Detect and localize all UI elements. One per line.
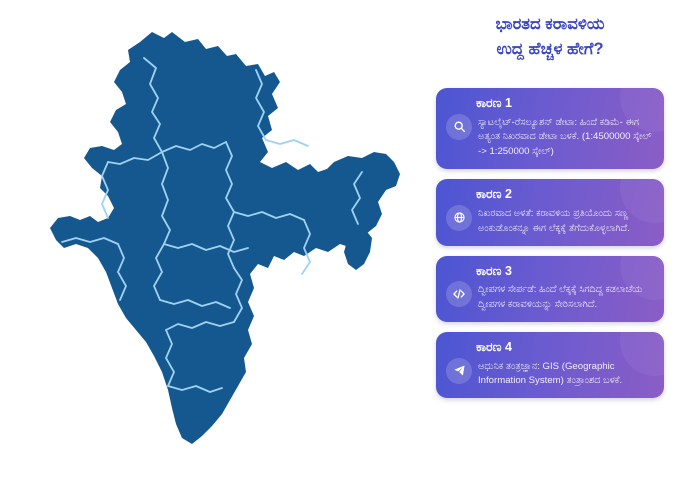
india-mainland-shape (50, 32, 368, 444)
code-icon (446, 281, 472, 307)
reason-card-3-title: ಕಾರಣ 3 (476, 264, 654, 280)
page-title-line-2: ಉದ್ದ ಹೆಚ್ಚಳ ಹೇಗೆ? (420, 37, 680, 62)
page-title: ಭಾರತದ ಕರಾವಳಿಯ ಉದ್ದ ಹೆಚ್ಚಳ ಹೇಗೆ? (420, 12, 680, 62)
content-panel: ಭಾರತದ ಕರಾವಳಿಯ ಉದ್ದ ಹೆಚ್ಚಳ ಹೇಗೆ? ಕಾರಣ 1 ಸ… (420, 0, 680, 485)
reason-card-2-title: ಕಾರಣ 2 (476, 187, 654, 203)
infographic-page: ಭಾರತದ ಕರಾವಳಿಯ ಉದ್ದ ಹೆಚ್ಚಳ ಹೇಗೆ? ಕಾರಣ 1 ಸ… (0, 0, 680, 485)
reason-card-3-text: ದ್ವೀಪಗಳ ಸೇರ್ಪಡೆ: ಹಿಂದೆ ಲೆಕ್ಕಕ್ಕೆ ಸಿಗದಿದ್… (478, 282, 654, 313)
reason-card-1[interactable]: ಕಾರಣ 1 ಸ್ಯಾಟಲೈಟ್-ರೆಸಲ್ಯೂಶನ್ ಡೇಟಾ: ಹಿಂದೆ … (436, 88, 664, 169)
reason-card-4-title: ಕಾರಣ 4 (476, 340, 654, 356)
reason-card-1-text: ಸ್ಯಾಟಲೈಟ್-ರೆಸಲ್ಯೂಶನ್ ಡೇಟಾ: ಹಿಂದೆ ಕಡಿಮೆ- … (478, 115, 654, 161)
page-title-line-1: ಭಾರತದ ಕರಾವಳಿಯ (420, 12, 680, 37)
india-map (22, 12, 412, 482)
globe-icon (446, 205, 472, 231)
reason-card-4-body: ಆಧುನಿಕ ತಂತ್ರಜ್ಞಾನ: GIS (Geographic Infor… (446, 359, 654, 390)
reason-card-2-text: ನಿಖರವಾದ ಅಳತೆ: ಕರಾವಳಿಯ ಪ್ರತಿಯೊಂದು ಸಣ್ಣ ಅಂ… (478, 206, 654, 237)
reason-card-3-body: ದ್ವೀಪಗಳ ಸೇರ್ಪಡೆ: ಹಿಂದೆ ಲೆಕ್ಕಕ್ಕೆ ಸಿಗದಿದ್… (446, 282, 654, 313)
reason-card-1-title: ಕಾರಣ 1 (476, 96, 654, 112)
reason-card-2[interactable]: ಕಾರಣ 2 ನಿಖರವಾದ ಅಳತೆ: ಕರಾವಳಿಯ ಪ್ರತಿಯೊಂದು … (436, 179, 664, 245)
reason-card-2-body: ನಿಖರವಾದ ಅಳತೆ: ಕರಾವಳಿಯ ಪ್ರತಿಯೊಂದು ಸಣ್ಣ ಅಂ… (446, 206, 654, 237)
map-panel (0, 0, 420, 485)
reason-card-3[interactable]: ಕಾರಣ 3 ದ್ವೀಪಗಳ ಸೇರ್ಪಡೆ: ಹಿಂದೆ ಲೆಕ್ಕಕ್ಕೆ … (436, 256, 664, 322)
send-icon (446, 358, 472, 384)
reason-card-list: ಕಾರಣ 1 ಸ್ಯಾಟಲೈಟ್-ರೆಸಲ್ಯೂಶನ್ ಡೇಟಾ: ಹಿಂದೆ … (420, 88, 680, 408)
reason-card-4[interactable]: ಕಾರಣ 4 ಆಧುನಿಕ ತಂತ್ರಜ್ಞಾನ: GIS (Geographi… (436, 332, 664, 398)
reason-card-4-text: ಆಧುನಿಕ ತಂತ್ರಜ್ಞಾನ: GIS (Geographic Infor… (478, 359, 654, 390)
search-icon (446, 114, 472, 140)
reason-card-1-body: ಸ್ಯಾಟಲೈಟ್-ರೆಸಲ್ಯೂಶನ್ ಡೇಟಾ: ಹಿಂದೆ ಕಡಿಮೆ- … (446, 115, 654, 161)
